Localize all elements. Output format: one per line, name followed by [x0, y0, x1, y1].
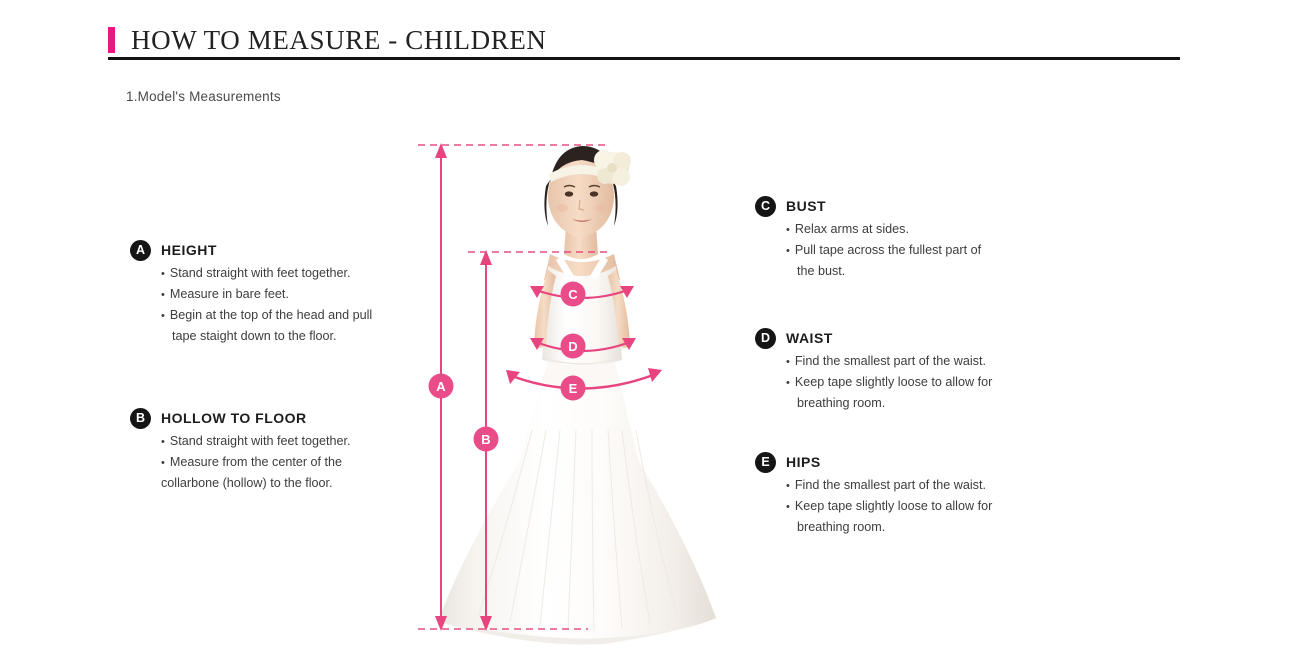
- measure-lines-hollow-to-floor: Stand straight with feet together. Measu…: [161, 431, 431, 493]
- header-divider: [108, 57, 1180, 60]
- measure-line: Keep tape slightly loose to allow for: [786, 372, 1056, 393]
- section-subtitle: 1.Model's Measurements: [126, 89, 281, 104]
- badge-c-label: C: [568, 287, 578, 302]
- measure-line: Stand straight with feet together.: [161, 431, 431, 452]
- measure-line: Find the smallest part of the waist.: [786, 351, 1056, 372]
- measure-line: Measure in bare feet.: [161, 284, 431, 305]
- measure-line: tape staight down to the floor.: [161, 326, 431, 346]
- measure-line: Find the smallest part of the waist.: [786, 475, 1056, 496]
- page-header: HOW TO MEASURE - CHILDREN: [108, 22, 1180, 62]
- measure-line: breathing room.: [786, 517, 1056, 537]
- flower-headband-icon: [594, 150, 631, 186]
- measure-line: Measure from the center of the: [161, 452, 431, 473]
- badge-d-label: D: [568, 339, 577, 354]
- measure-lines-bust: Relax arms at sides. Pull tape across th…: [786, 219, 1056, 281]
- measure-heading-bust: BUST: [786, 198, 826, 214]
- badge-letter-b: B: [130, 408, 151, 429]
- measure-line: Relax arms at sides.: [786, 219, 1056, 240]
- badge-letter-e: E: [755, 452, 776, 473]
- measurement-diagram: A B C D E: [400, 130, 740, 650]
- measure-arrow-a: A: [429, 143, 454, 631]
- measure-line: breathing room.: [786, 393, 1056, 413]
- measure-heading-height: HEIGHT: [161, 242, 217, 258]
- title-accent-bar: [108, 27, 115, 53]
- badge-letter-c: C: [755, 196, 776, 217]
- measure-line: Pull tape across the fullest part of: [786, 240, 1056, 261]
- badge-letter-d: D: [755, 328, 776, 349]
- measure-lines-hips: Find the smallest part of the waist. Kee…: [786, 475, 1056, 537]
- badge-letter-a: A: [130, 240, 151, 261]
- badge-b-label: B: [481, 432, 490, 447]
- badge-e-label: E: [569, 381, 578, 396]
- page-title: HOW TO MEASURE - CHILDREN: [131, 22, 547, 58]
- measure-line: the bust.: [786, 261, 1056, 281]
- measure-heading-hips: HIPS: [786, 454, 821, 470]
- measure-lines-waist: Find the smallest part of the waist. Kee…: [786, 351, 1056, 413]
- measure-line: collarbone (hollow) to the floor.: [161, 473, 431, 493]
- measure-line: Keep tape slightly loose to allow for: [786, 496, 1056, 517]
- measure-heading-hollow-to-floor: HOLLOW TO FLOOR: [161, 410, 307, 426]
- measure-lines-height: Stand straight with feet together. Measu…: [161, 263, 431, 346]
- measure-line: Begin at the top of the head and pull: [161, 305, 431, 326]
- measure-line: Stand straight with feet together.: [161, 263, 431, 284]
- measure-heading-waist: WAIST: [786, 330, 833, 346]
- badge-a-label: A: [436, 379, 446, 394]
